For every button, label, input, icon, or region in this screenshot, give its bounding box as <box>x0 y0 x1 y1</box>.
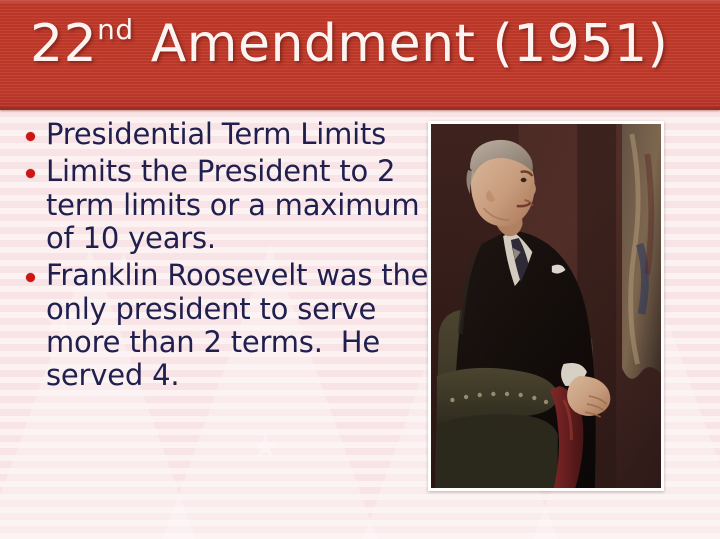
page-title-rest: Amendment (1951) <box>134 14 669 74</box>
list-item-label: Presidential Term Limits <box>46 118 432 151</box>
page-title: 22nd Amendment (1951) <box>30 13 668 74</box>
bullet-list: Presidential Term Limits Limits the Pres… <box>22 118 432 397</box>
list-item-label: Franklin Roosevelt was the only presiden… <box>46 259 432 392</box>
list-item: Limits the President to 2 term limits or… <box>22 155 432 255</box>
bullet-dot-icon <box>26 169 35 178</box>
slide: ★ ★ ★ ★ 22nd Amendment (1951) Presidenti… <box>0 0 720 539</box>
portrait-image-frame <box>428 121 664 491</box>
page-title-number: 22 <box>30 14 97 74</box>
bullet-dot-icon <box>26 273 35 282</box>
page-title-ordinal-suffix: nd <box>97 13 134 46</box>
list-item: Presidential Term Limits <box>22 118 432 151</box>
watermark-star-icon: ★ <box>250 430 280 464</box>
bullet-dot-icon <box>26 132 35 141</box>
list-item-label: Limits the President to 2 term limits or… <box>46 155 432 255</box>
slide-title-band: 22nd Amendment (1951) <box>0 0 720 110</box>
list-item: Franklin Roosevelt was the only presiden… <box>22 259 432 392</box>
franklin-d-roosevelt-portrait <box>431 124 661 488</box>
